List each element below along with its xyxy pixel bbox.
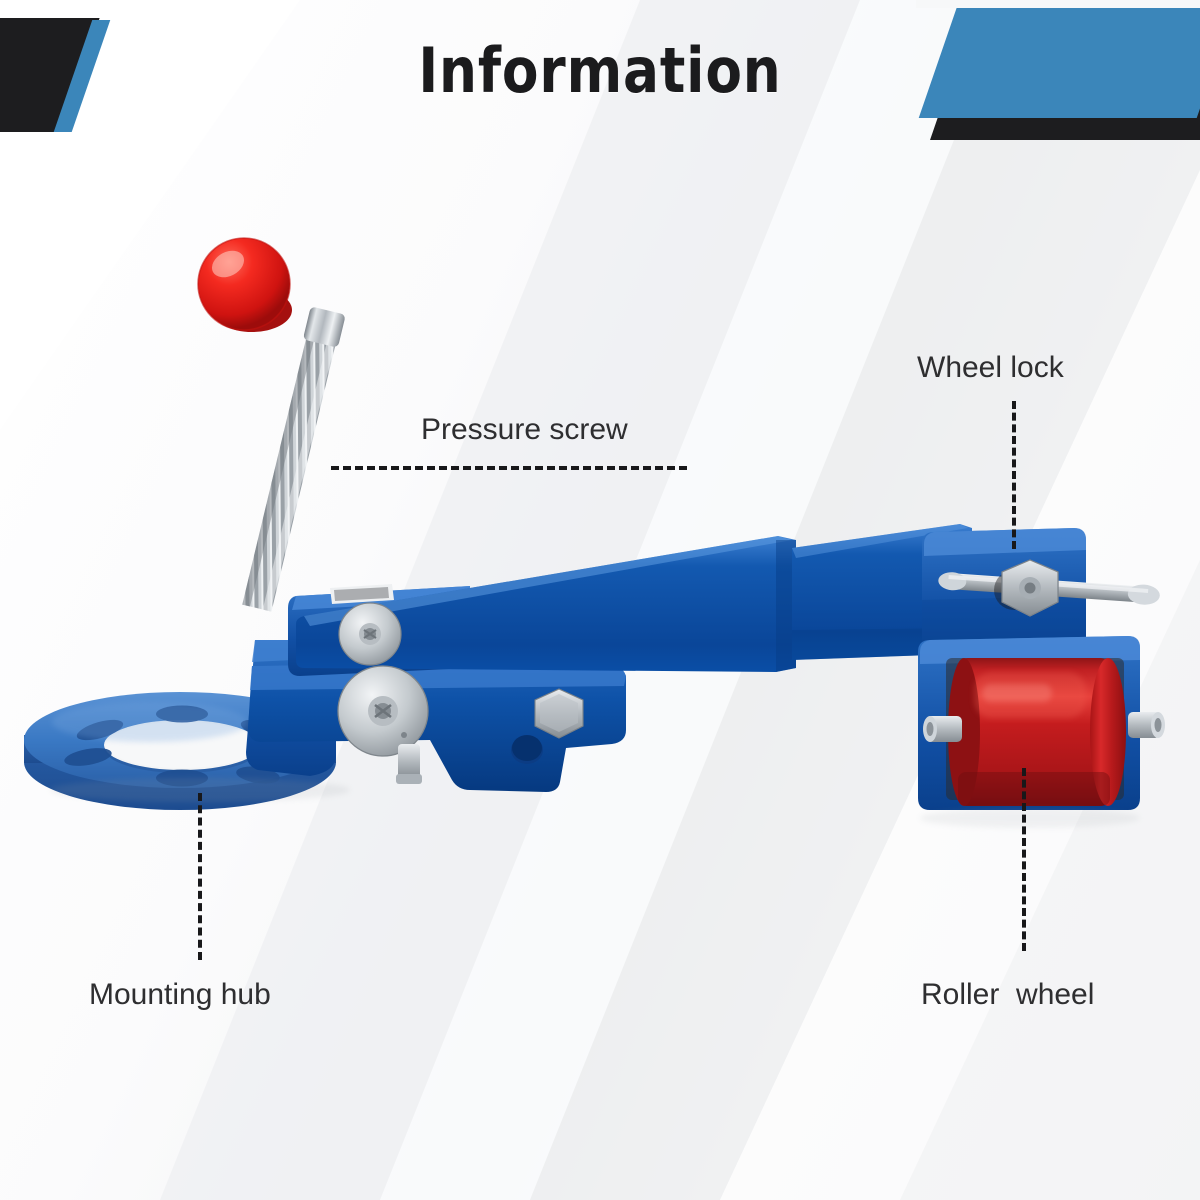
axle-bolt-right [1128,712,1165,738]
pressure-screw [242,306,346,611]
washer-center [338,666,428,756]
knob [198,238,292,332]
leader-line-mounting-hub [198,793,202,960]
under-screw [396,744,422,784]
axle-bolt-left [923,716,962,742]
callout-label-roller-wheel: Roller wheel [921,978,1094,1012]
leader-line-wheel-lock [1012,401,1016,549]
leader-line-pressure-screw [331,466,687,470]
callout-label-wheel-lock: Wheel lock [917,351,1064,385]
callout-label-mounting-hub: Mounting hub [89,978,271,1012]
infographic-page: Information [0,0,1200,1200]
roller-wheel [948,658,1126,806]
leader-line-roller-wheel [1022,768,1026,951]
washer-upper [339,603,401,665]
product-photo [0,0,1200,1200]
callout-label-pressure-screw: Pressure screw [421,413,628,447]
roller-assembly [918,636,1165,810]
